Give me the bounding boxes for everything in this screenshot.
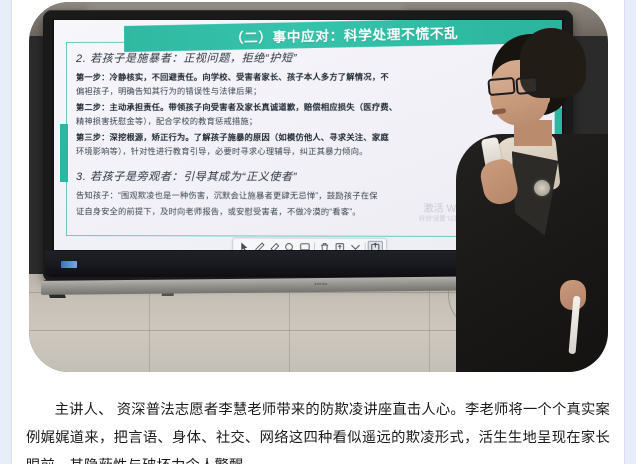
- caption-text: 主讲人、 资深普法志愿者李慧老师带来的防欺凌讲座直击人心。李老师将一个个真实案例…: [26, 402, 610, 464]
- slide-header-title: （二）事中应对：科学处理不慌不乱: [230, 22, 459, 47]
- toolbar-separator: [314, 242, 315, 250]
- spotlight-icon[interactable]: [297, 241, 312, 250]
- pen-icon[interactable]: [251, 240, 266, 250]
- presenter-glasses-right-lens: [515, 76, 538, 95]
- presenter-figure: [462, 8, 608, 372]
- page-gutter-right: [625, 0, 636, 464]
- slide-accent-bar-left: [60, 124, 68, 182]
- delete-icon[interactable]: [317, 241, 332, 250]
- page-gutter-left: [0, 0, 11, 464]
- article-page: （二）事中应对：科学处理不慌不乱 2. 若孩子是施暴者：正视问题，拒绝“护短” …: [0, 0, 636, 464]
- whiteboard-status-led: [61, 261, 77, 268]
- exit-icon[interactable]: [368, 241, 383, 250]
- save-icon[interactable]: [332, 241, 347, 250]
- article-caption-paragraph: 主讲人、 资深普法志愿者李慧老师带来的防欺凌讲座直击人心。李老师将一个个真实案例…: [26, 396, 610, 464]
- photo-content: （二）事中应对：科学处理不慌不乱 2. 若孩子是施暴者：正视问题，拒绝“护短” …: [29, 2, 608, 372]
- chevron-down-icon[interactable]: [347, 241, 362, 250]
- whiteboard-brand-logo: seewo: [314, 281, 328, 286]
- annotation-toolbar[interactable]: [232, 237, 387, 250]
- presenter-glasses-left-lens: [487, 77, 515, 96]
- cursor-arrow-icon[interactable]: [236, 240, 251, 250]
- page-gutter-right-edge: [624, 0, 625, 464]
- page-gutter-left-edge: [11, 0, 12, 464]
- eraser-icon[interactable]: [266, 241, 281, 250]
- magnifier-icon[interactable]: [282, 241, 297, 250]
- toolbar-separator: [365, 242, 366, 250]
- lecture-photo: （二）事中应对：科学处理不慌不乱 2. 若孩子是施暴者：正视问题，拒绝“护短” …: [29, 2, 608, 372]
- presenter-brooch: [534, 180, 550, 196]
